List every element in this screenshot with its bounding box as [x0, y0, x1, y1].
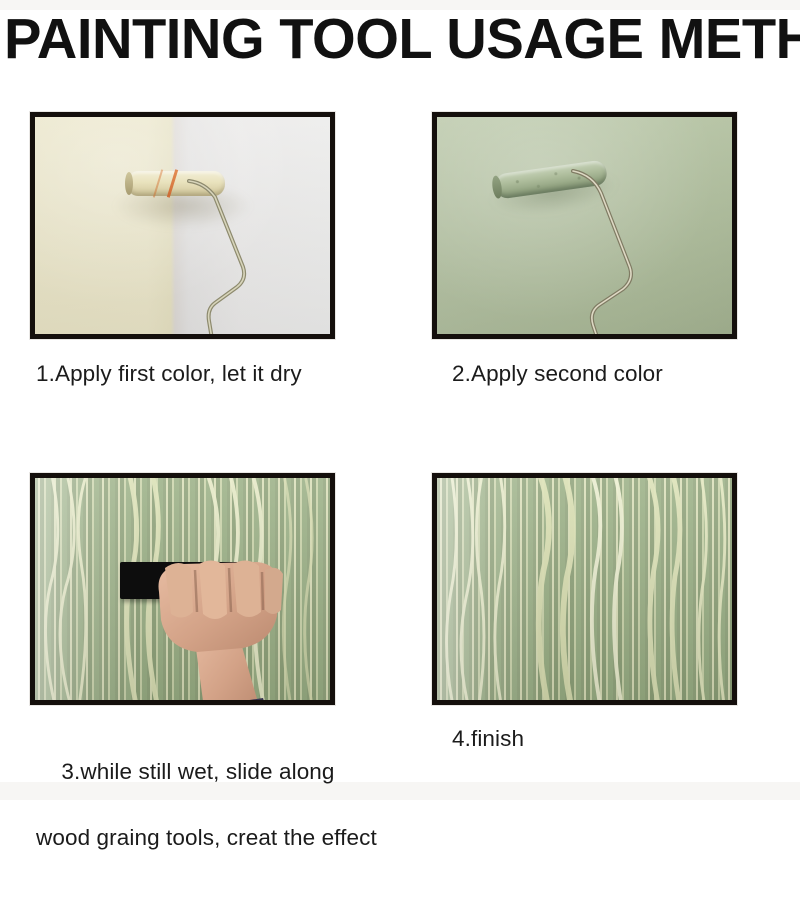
step-2-photo	[437, 117, 732, 334]
roller-stripe-secondary	[153, 169, 163, 197]
step-3-caption-line-1: 3.while still wet, slide along	[61, 759, 334, 784]
step-2-caption: 2.Apply second color	[452, 357, 663, 390]
step-3-photo	[35, 478, 330, 700]
step-3-caption-line-2: wood graing tools, creat the effect	[36, 821, 377, 854]
step-4-photo-frame	[432, 473, 737, 705]
step-4-caption: 4.finish	[452, 722, 524, 755]
step-1-photo-frame	[30, 112, 335, 339]
roller-handle-icon	[567, 169, 687, 334]
page-title: PAINTING TOOL USAGE METHOD	[4, 8, 784, 70]
roller-end-cap	[125, 172, 133, 195]
step-4-photo	[437, 478, 732, 700]
step-2-photo-frame	[432, 112, 737, 339]
step-3-photo-frame	[30, 473, 335, 705]
instructional-poster: PAINTING TOOL USAGE METHOD	[0, 0, 800, 800]
wall-sheen	[437, 478, 732, 700]
roller-stripe-orange	[167, 169, 178, 198]
step-3-caption: 3.while still wet, slide along wood grai…	[36, 722, 377, 920]
roller-handle-icon	[185, 175, 295, 334]
hand-icon	[139, 556, 289, 700]
step-1-photo	[35, 117, 330, 334]
wall-wood-grain-finished	[437, 478, 732, 700]
step-1-caption: 1.Apply first color, let it dry	[36, 357, 302, 390]
